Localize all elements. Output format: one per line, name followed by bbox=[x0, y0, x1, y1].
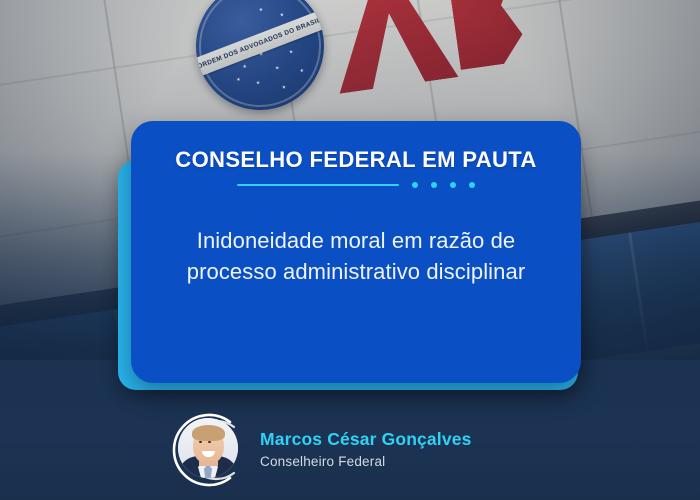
divider-dot bbox=[469, 182, 475, 188]
avatar-wrapper bbox=[168, 411, 246, 489]
card-title: CONSELHO FEDERAL EM PAUTA bbox=[136, 147, 577, 173]
author-text: Marcos César Gonçalves Conselheiro Feder… bbox=[260, 429, 471, 470]
author-block: Marcos César Gonçalves Conselheiro Feder… bbox=[168, 411, 471, 489]
divider-dot bbox=[431, 182, 437, 188]
author-name: Marcos César Gonçalves bbox=[260, 429, 471, 450]
card-body-text: Inidoneidade moral em razão de processo … bbox=[155, 225, 557, 287]
content-card: CONSELHO FEDERAL EM PAUTA Inidoneidade m… bbox=[131, 121, 581, 383]
divider-dots bbox=[412, 182, 475, 188]
divider-line bbox=[237, 184, 399, 187]
author-role: Conselheiro Federal bbox=[260, 454, 471, 470]
title-divider bbox=[131, 182, 581, 188]
avatar bbox=[178, 418, 238, 478]
divider-dot bbox=[450, 182, 456, 188]
divider-dot bbox=[412, 182, 418, 188]
social-card-graphic: ORDEM DOS ADVOGADOS DO BRASIL CONSELHO F… bbox=[0, 0, 700, 500]
